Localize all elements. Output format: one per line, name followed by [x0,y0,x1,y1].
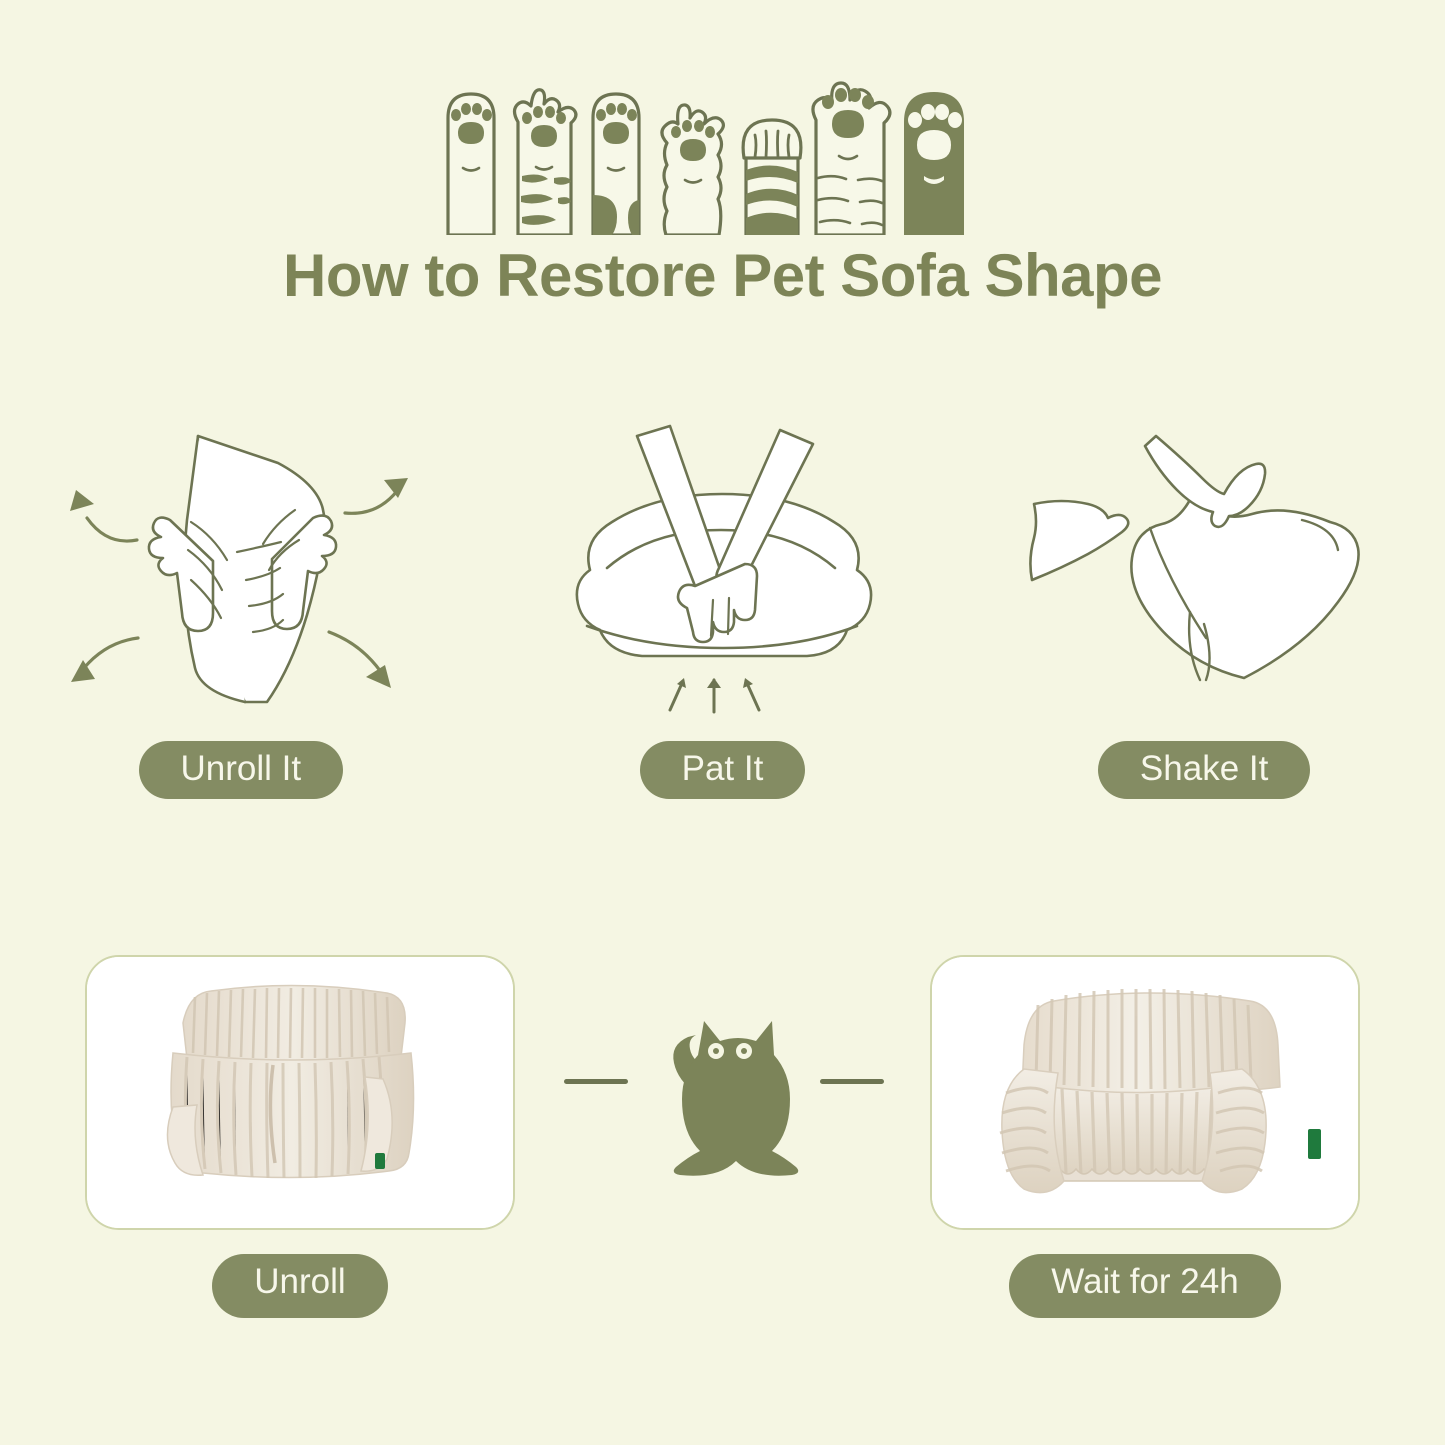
step-pat-it: Pat It [507,395,937,799]
left-dash-icon [564,1079,628,1084]
comparison-label-wait-24h: Wait for 24h [1009,1254,1280,1318]
step-pat-it-illustration [507,395,937,735]
step-label-unroll-it: Unroll It [139,741,344,799]
paw-row-icon [438,60,1008,235]
step-shake-it-illustration [989,395,1419,735]
right-dash-icon [820,1079,884,1084]
paw-4-icon [661,105,722,235]
two-hands-shaking-fabric-icon [1004,400,1404,730]
label-slot-after: Wait for 24h [930,1248,1360,1318]
label-slot-mid [558,1248,888,1318]
expanded-pet-sofa-photo [932,957,1358,1228]
brand-tag-icon [1308,1129,1321,1159]
paw-6-icon [812,83,889,235]
infographic-page: How to Restore Pet Sofa Shape [0,0,1445,1445]
paw-5-icon [743,120,801,235]
steps-row: Unroll It [0,395,1445,845]
hands-stretching-fabric-icon [41,400,441,730]
arrow-bottom-right-icon [329,632,391,688]
paw-3-icon [593,94,639,235]
photo-card-before [85,955,515,1230]
step-unroll-it: Unroll It [26,395,456,799]
step-shake-it: Shake It [989,395,1419,799]
cat-divider-icon [558,1003,888,1183]
before-after-labels: Unroll Wait for 24h [0,1248,1445,1318]
hands-patting-cushion-icon [537,400,907,730]
step-label-pat-it: Pat It [640,741,806,799]
paw-2-icon [514,90,575,235]
paw-1-icon [448,94,494,235]
comparison-divider [558,955,888,1230]
brand-tag-icon [375,1153,385,1169]
arrow-top-left-icon [70,490,137,541]
label-slot-before: Unroll [85,1248,515,1318]
before-after-row [0,955,1445,1295]
compressed-pet-bed-photo [87,957,513,1228]
upward-arrows-icon [670,678,759,712]
paw-7-icon [904,92,964,235]
arrow-top-right-icon [345,478,408,513]
page-title: How to Restore Pet Sofa Shape [0,243,1445,309]
step-unroll-it-illustration [26,395,456,735]
step-label-shake-it: Shake It [1098,741,1310,799]
cat-paws-decoration [0,60,1445,235]
cat-silhouette-icon [673,1021,798,1176]
photo-card-after [930,955,1360,1230]
arrow-bottom-left-icon [71,638,138,682]
comparison-label-unroll: Unroll [212,1254,387,1318]
